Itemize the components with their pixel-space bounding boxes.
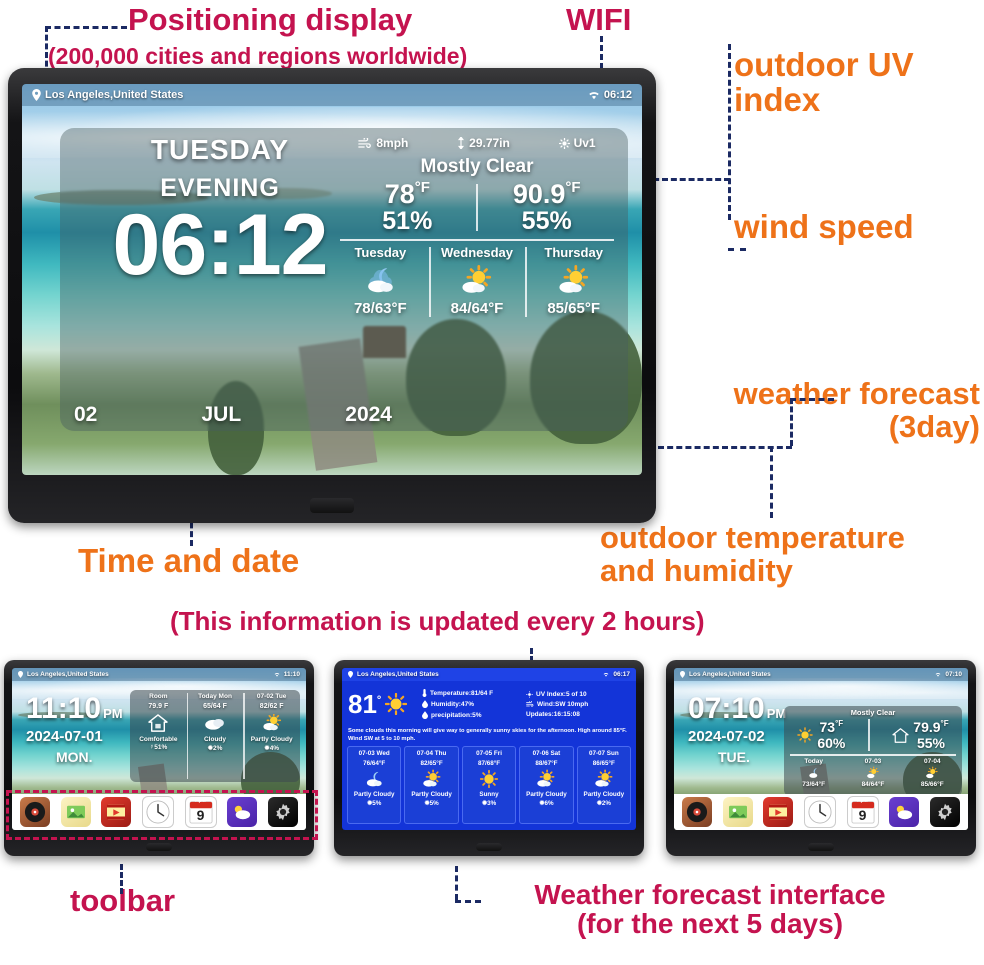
forecast-day-precip: ✹2% <box>578 800 630 807</box>
panel-caption: Comfortable <box>130 736 187 743</box>
forecast-day-name: 07-05 Fri <box>463 750 515 757</box>
panel-title: Today Mon <box>187 693 244 700</box>
cloud-icon <box>187 710 244 736</box>
mini-forecast-day: 07-03 84/64°F <box>843 758 902 788</box>
forecast-day-name: 07-03 Wed <box>348 750 400 757</box>
panel-title: Room <box>130 693 187 700</box>
forecast-day-name: Tuesday <box>332 245 429 260</box>
forecast-day-temp: 82/65°F <box>405 760 457 767</box>
device-3-hr <box>790 754 956 756</box>
forecast-day-condition: Partly Cloudy <box>348 791 400 798</box>
device-2-screen-area: Los Angeles,United States 06:17 81° <box>342 668 636 830</box>
main-temps-divider <box>476 184 478 231</box>
main-divider-line <box>340 239 614 241</box>
panel-value: 79.9 F <box>130 703 187 710</box>
forecast-day-temp: 87/68°F <box>463 760 515 767</box>
home-icon <box>892 728 909 743</box>
forecast-day-card[interactable]: 07-05 Fri 87/68°F Sunny ✹3% <box>462 746 516 824</box>
device-2-current-block: 81° Temperature:81/64 F Humidity:47% <box>342 681 636 727</box>
device-1-status-time: 11:10 <box>284 671 300 678</box>
sun-icon <box>385 693 407 715</box>
forecast-day: Wednesday <box>429 243 526 321</box>
leader-forecast3-h2 <box>790 398 834 401</box>
forecast-day-temp: 86/65°F <box>578 760 630 767</box>
main-indoor-humidity: 55% <box>480 208 613 234</box>
annotation-weather-interface: Weather forecast interface (for the next… <box>452 880 968 939</box>
forecast-day-temp: 85/65°F <box>525 300 622 317</box>
device-2-stand <box>476 843 502 851</box>
settings-app-icon[interactable] <box>930 797 960 827</box>
device-3-info-panel: Mostly Clear 73°F 60% <box>784 706 962 796</box>
device-2-current-temp: 81° <box>348 683 422 725</box>
forecast-day-temp: 84/64°F <box>429 300 526 317</box>
annotation-update-note: (This information is updated every 2 hou… <box>170 608 705 635</box>
device-2-details-right: UV Index:5 of 10 Wind:SW 10mph Updates:1… <box>526 683 630 725</box>
annotation-weather-forecast-3day: weather forecast (3day) <box>694 378 980 443</box>
sun-cloud-icon <box>903 765 962 781</box>
forecast-day-temp: 78/63°F <box>332 300 429 317</box>
main-stat-row: 8mph 29.77in Uv1 <box>332 130 622 152</box>
pressure-icon <box>457 137 465 149</box>
panel-sub: ✹4% <box>243 744 300 752</box>
moon-cloud-icon <box>348 767 400 791</box>
location-pin-icon <box>348 671 353 678</box>
photo-app-icon[interactable] <box>723 797 753 827</box>
device-3-temp-row: 73°F 60% 79.9°F 55% <box>784 717 962 751</box>
device-3-weekday: TUE. <box>718 749 786 765</box>
forecast-day-precip: ✹5% <box>405 800 457 807</box>
location-pin-icon <box>680 671 685 678</box>
forecast-day-condition: Partly Cloudy <box>578 791 630 798</box>
leader-uv-v <box>728 44 731 220</box>
detail-updates-text: Updates:16:15:08 <box>526 711 580 718</box>
precip-icon <box>422 711 428 719</box>
detail-wind-text: Wind:SW 10mph <box>537 701 588 708</box>
device-3-condition: Mostly Clear <box>784 706 962 717</box>
main-indoor-deg: °F <box>565 179 580 196</box>
device-3-mini-forecast: Today 73/64°F 07-03 84/64°F <box>784 758 962 788</box>
detail-humidity-text: Humidity:47% <box>431 701 474 708</box>
device-3-indoor-temp: 79.9°F <box>913 719 948 735</box>
device-3-indoor-deg: °F <box>941 719 949 728</box>
wifi-icon <box>603 672 609 677</box>
thermometer-icon <box>422 689 427 697</box>
device-3-outdoor-temp: 73°F <box>817 719 845 735</box>
device-3-clock-value: 07:10 <box>688 692 765 725</box>
main-wallpaper: Los Angeles,United States 06:12 TUESDAY … <box>22 84 642 475</box>
moon-cloud-icon <box>784 765 843 781</box>
device-1-clock-value: 11:10 <box>26 692 101 725</box>
mini-day-name: 07-04 <box>903 758 962 765</box>
main-outdoor-deg: °F <box>415 179 430 196</box>
location-pin-icon <box>32 89 41 101</box>
panel-value: 65/64 F <box>187 703 244 710</box>
forecast-temp-deg: °F <box>392 300 407 317</box>
wind-icon <box>526 701 534 707</box>
panel-title: 07-02 Tue <box>243 693 300 700</box>
device-2-forecast-5day: 07-03 Wed 76/64°F Partly Cloudy ✹5% 07-0… <box>347 746 631 824</box>
device-3-screen-area: Los Angeles,United States 07:10 07:10PM … <box>674 668 968 830</box>
device-3-indoor-temp-value: 79.9 <box>913 719 940 735</box>
humidity-icon <box>422 700 428 708</box>
forecast-day-condition: Partly Cloudy <box>405 791 457 798</box>
device-1-clock: 11:10PM <box>26 694 123 724</box>
forecast-day-condition: Sunny <box>463 791 515 798</box>
main-clock: 06:12 <box>70 205 370 287</box>
device-2-temp-degree: ° <box>377 694 381 706</box>
forecast-day-precip: ✹5% <box>348 800 400 807</box>
main-status-bar: Los Angeles,United States 06:12 <box>22 84 642 106</box>
main-forecast-3day: Tuesday 78/63°F <box>332 243 622 321</box>
forecast-day-precip: ✹3% <box>463 800 515 807</box>
forecast-day-name: Thursday <box>525 245 622 260</box>
leader-wind-h <box>728 248 746 251</box>
detail-temperature-text: Temperature:81/64 F <box>430 690 493 697</box>
forecast-day-name: 07-04 Thu <box>405 750 457 757</box>
device-3-outdoor-temp-value: 73 <box>820 719 836 735</box>
detail-precipitation-text: precipitation:5% <box>431 712 482 719</box>
device-3-indoor-humidity: 55% <box>913 735 948 751</box>
device-3-divider <box>868 719 870 751</box>
uv-icon <box>526 691 533 698</box>
main-weather-block: 8mph 29.77in Uv1 <box>332 130 622 321</box>
annotation-outdoor-temp-humidity: outdoor temperature and humidity <box>600 522 905 587</box>
panel-cell-room: Room 79.9 F Comfortable ☿51% <box>130 690 187 782</box>
device-1-date: 2024-07-01 <box>26 728 123 745</box>
forecast-day-card[interactable]: 07-04 Thu 82/65°F Partly Cloudy ✹5% <box>404 746 458 824</box>
device-3-status-bar: Los Angeles,United States 07:10 <box>674 668 968 681</box>
home-icon <box>130 710 187 736</box>
mini-day-name: Today <box>784 758 843 765</box>
device-3-location: Los Angeles,United States <box>689 671 771 678</box>
panel-cell-tomorrow: 07-02 Tue 82/62 F Partly Cloudy ✹4% <box>243 690 300 782</box>
main-info-card: TUESDAY EVENING 06:12 02 JUL 2024 <box>60 128 628 431</box>
wifi-icon <box>274 672 280 677</box>
annotation-uv-index: outdoor UV index <box>734 48 914 117</box>
forecast-day-temp: 88/67°F <box>520 760 572 767</box>
device-1-clock-block: 11:10PM 2024-07-01 MON. <box>26 694 123 765</box>
device-1-location: Los Angeles,United States <box>27 671 109 678</box>
forecast-day: Tuesday 78/63°F <box>332 243 429 321</box>
device-3-outdoor-deg: °F <box>835 719 843 728</box>
panel-cell-today: Today Mon 65/64 F Cloudy ✹2% <box>187 690 244 782</box>
main-status-time: 06:12 <box>604 89 632 101</box>
forecast-day-temp: 76/64°F <box>348 760 400 767</box>
main-location-text: Los Angeles,United States <box>45 89 183 101</box>
stat-wind: 8mph <box>358 136 408 150</box>
main-condition: Mostly Clear <box>332 156 622 178</box>
detail-uv-text: UV Index:5 of 10 <box>536 691 587 698</box>
detail-humidity: Humidity:47% <box>422 700 526 708</box>
device-3-indoor: 79.9°F 55% <box>892 719 948 751</box>
sun-cloud-icon <box>520 767 572 791</box>
device-1-stand <box>146 843 172 851</box>
device-3-frame: Los Angeles,United States 07:10 07:10PM … <box>666 660 976 856</box>
main-outdoor-temp-value: 78 <box>385 179 415 209</box>
wifi-icon <box>935 672 941 677</box>
device-3-outdoor-values: 73°F 60% <box>817 719 845 751</box>
detail-temperature: Temperature:81/64 F <box>422 689 526 697</box>
sun-icon <box>463 767 515 791</box>
mini-day-name: 07-03 <box>843 758 902 765</box>
device-1-weekday: MON. <box>56 749 123 765</box>
forecast-day-name: 07-06 Sat <box>520 750 572 757</box>
sun-cloud-icon <box>578 767 630 791</box>
detail-updates: Updates:16:15:08 <box>526 711 630 718</box>
panel-caption: Cloudy <box>187 736 244 743</box>
device-3-indoor-values: 79.9°F 55% <box>913 719 948 751</box>
main-date-day: 02 <box>74 403 97 427</box>
panel-sub: ☿51% <box>130 744 187 751</box>
mini-forecast-day: 07-04 85/66°F <box>903 758 962 788</box>
music-app-icon[interactable] <box>682 797 712 827</box>
sun-cloud-icon <box>525 260 622 300</box>
leader-outdoor-v2 <box>770 446 773 518</box>
device-2-details-left: Temperature:81/64 F Humidity:47% precipi… <box>422 683 526 725</box>
sun-cloud-icon <box>243 710 300 736</box>
uv-icon <box>559 138 570 149</box>
sun-icon <box>797 727 813 743</box>
panel-caption: Partly Cloudy <box>243 736 300 743</box>
device-2-temp-value: 81° <box>348 691 381 717</box>
forecast-day-card[interactable]: 07-07 Sun 86/65°F Partly Cloudy ✹2% <box>577 746 631 824</box>
mini-day-temp: 73/64°F <box>784 781 843 788</box>
weather-app-icon[interactable] <box>889 797 919 827</box>
device-3-clock: 07:10PM <box>688 694 786 724</box>
device-3-outdoor-humidity: 60% <box>817 735 845 751</box>
detail-precipitation: precipitation:5% <box>422 711 526 719</box>
device-1-status-bar: Los Angeles,United States 11:10 <box>12 668 306 681</box>
mini-day-temp: 84/64°F <box>843 781 902 788</box>
video-app-icon[interactable] <box>763 797 793 827</box>
detail-uv: UV Index:5 of 10 <box>526 691 630 698</box>
leader-forecast3-v <box>790 398 793 446</box>
forecast-day-name: Wednesday <box>429 245 526 260</box>
sun-cloud-icon <box>843 765 902 781</box>
device-2-frame: Los Angeles,United States 06:17 81° <box>334 660 644 856</box>
annotation-wind-speed: wind speed <box>734 210 914 245</box>
forecast-temp-value: 84/64 <box>451 300 489 317</box>
device-2-description: Some clouds this morning will give way t… <box>348 728 630 744</box>
panel-sub: ✹2% <box>187 744 244 752</box>
forecast-day-card[interactable]: 07-03 Wed 76/64°F Partly Cloudy ✹5% <box>347 746 401 824</box>
annotation-positioning-display: Positioning display <box>128 4 412 37</box>
stat-uv-value: Uv1 <box>574 136 596 150</box>
device-2-status-time: 06:17 <box>613 671 630 678</box>
forecast-day-name: 07-07 Sun <box>578 750 630 757</box>
sun-cloud-icon <box>405 767 457 791</box>
main-day-name: TUESDAY <box>70 134 370 166</box>
detail-wind: Wind:SW 10mph <box>526 701 630 708</box>
forecast-day-condition: Partly Cloudy <box>520 791 572 798</box>
leader-weather-iface-v <box>455 866 458 900</box>
main-indoor-temp-value: 90.9 <box>513 179 566 209</box>
forecast-day-card[interactable]: 07-06 Sat 88/67°F Partly Cloudy ✹6% <box>519 746 573 824</box>
calendar-day-label: 9 <box>848 808 878 822</box>
device-2-location: Los Angeles,United States <box>357 671 439 678</box>
forecast-day: Thursday <box>525 243 622 321</box>
stat-uv: Uv1 <box>559 136 596 150</box>
sun-cloud-icon <box>429 260 526 300</box>
leader-toolbar-v <box>120 864 123 894</box>
main-device-frame: Los Angeles,United States 06:12 TUESDAY … <box>8 68 656 523</box>
main-outdoor-humidity: 51% <box>341 208 474 234</box>
device-1-ampm: PM <box>103 706 123 721</box>
forecast-temp-value: 85/65 <box>547 300 585 317</box>
main-clock-block: TUESDAY EVENING 06:12 <box>70 134 370 287</box>
main-device-stand <box>310 498 354 513</box>
device-3-stand <box>808 843 834 851</box>
wind-icon <box>358 138 372 149</box>
stat-pressure: 29.77in <box>457 136 510 150</box>
device-2-screen: Los Angeles,United States 06:17 81° <box>342 668 636 830</box>
forecast-temp-value: 78/63 <box>354 300 392 317</box>
stat-wind-value: 8mph <box>376 136 408 150</box>
forecast-day-precip: ✹6% <box>520 800 572 807</box>
clock-app-icon[interactable] <box>804 796 836 828</box>
main-temps: 78°F 51% 90.9°F 55% <box>332 180 622 235</box>
moon-cloud-icon <box>332 260 429 300</box>
device-2-status-bar: Los Angeles,United States 06:17 <box>342 668 636 681</box>
panel-value: 82/62 F <box>243 703 300 710</box>
mini-forecast-day: Today 73/64°F <box>784 758 843 788</box>
device-3-clock-block: 07:10PM 2024-07-02 TUE. <box>688 694 786 765</box>
main-date-month: JUL <box>201 403 241 427</box>
annotation-wifi: WIFI <box>566 4 631 37</box>
device-3-status-time: 07:10 <box>945 671 962 678</box>
stat-pressure-value: 29.77in <box>469 136 510 150</box>
device-3-toolbar[interactable]: April 9 <box>674 794 968 830</box>
main-date-year: 2024 <box>345 403 392 427</box>
location-pin-icon <box>18 671 23 678</box>
toolbar-highlight-box <box>6 790 318 840</box>
device-2-temp-number: 81 <box>348 689 377 719</box>
device-3-outdoor: 73°F 60% <box>797 719 845 751</box>
main-indoor-temp: 90.9°F <box>480 180 613 208</box>
main-outdoor-temp: 78°F <box>341 180 474 208</box>
main-outdoor: 78°F 51% <box>341 180 474 235</box>
main-indoor: 90.9°F 55% <box>480 180 613 235</box>
device-1-info-panel: Room 79.9 F Comfortable ☿51% Today Mon 6… <box>130 690 300 782</box>
annotation-positioning-sub: (200,000 cities and regions worldwide) <box>48 44 467 68</box>
calendar-app-icon[interactable]: April 9 <box>847 796 879 828</box>
wifi-icon <box>588 90 600 100</box>
forecast-temp-deg: °F <box>585 300 600 317</box>
calendar-month-label: April <box>848 798 878 803</box>
forecast-temp-deg: °F <box>488 300 503 317</box>
annotation-time-and-date: Time and date <box>78 544 299 579</box>
leader-weather-iface-h <box>455 900 481 903</box>
device-3-date: 2024-07-02 <box>688 728 786 745</box>
mini-day-temp: 85/66°F <box>903 781 962 788</box>
main-date-bar: 02 JUL 2024 <box>68 403 398 427</box>
device-3-wallpaper: Los Angeles,United States 07:10 07:10PM … <box>674 668 968 830</box>
leader-positioning-h <box>45 26 127 29</box>
main-device-screen-area: Los Angeles,United States 06:12 TUESDAY … <box>22 84 642 475</box>
